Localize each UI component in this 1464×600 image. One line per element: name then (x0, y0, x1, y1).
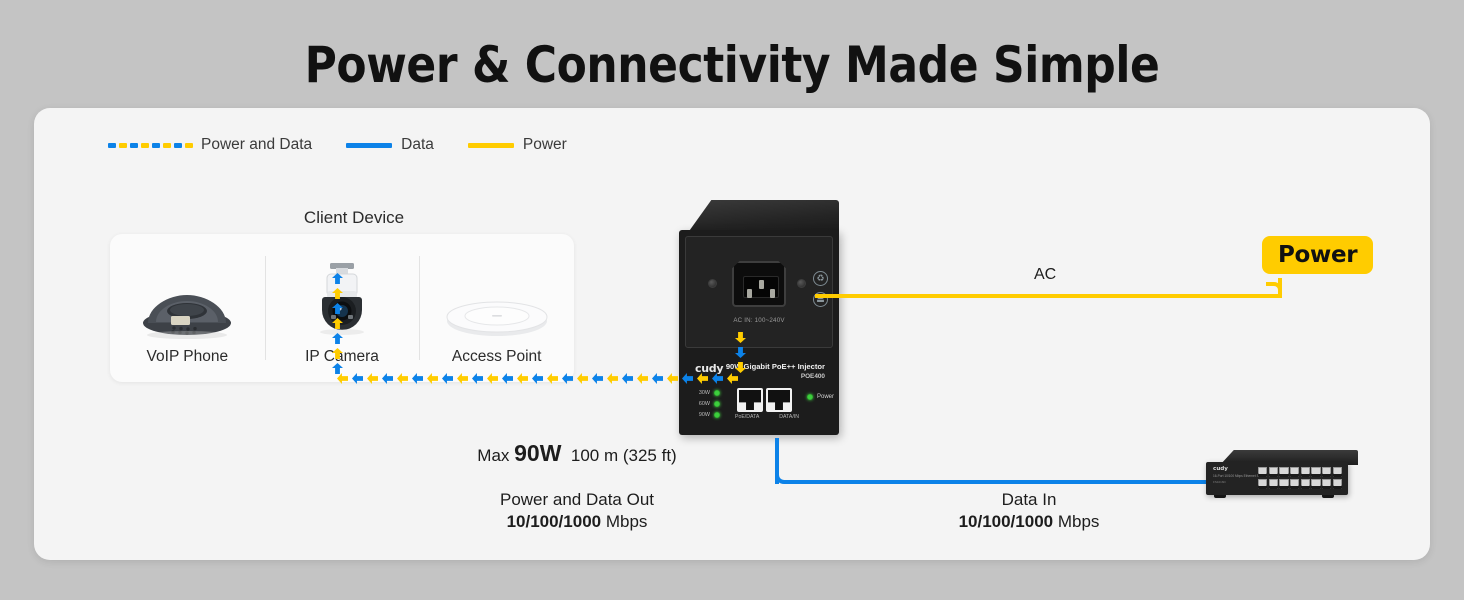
data-line-horizontal (791, 480, 1251, 484)
switch-foot (1214, 495, 1226, 498)
legend-label: Power and Data (201, 136, 312, 154)
poe-out-caption: Power and Data Out 10/100/1000 Mbps (432, 490, 722, 532)
injector-brand-logo: cudy (695, 362, 723, 375)
legend-item-data: Data (346, 136, 434, 154)
injector-front-panel: cudy 90W Gigabit PoE++ Injector POE400 3… (685, 354, 833, 429)
client-group-title: Client Device (144, 208, 564, 228)
led-label: 90W (695, 412, 710, 418)
page-title: Power & Connectivity Made Simple (88, 36, 1376, 94)
injector-port-group (737, 388, 792, 412)
power-led-icon (807, 394, 813, 400)
dash-arrow-icon (667, 373, 678, 384)
legend-swatch-data-icon (346, 143, 392, 148)
port-label-data-in: DATA/IN (779, 414, 799, 420)
legend-item-power: Power (468, 136, 567, 154)
rj45-port-data-in-icon (766, 388, 792, 412)
port-label-poe-data: PoE/DATA (735, 414, 759, 420)
legend-label: Power (523, 136, 567, 154)
data-in-title: Data In (884, 490, 1174, 510)
switch-port-grid (1258, 467, 1342, 489)
screw-icon (797, 279, 806, 288)
ac-connection-label: AC (1034, 266, 1056, 284)
injector-body: ♻ ⏏ AC IN: 100~240V cudy 90W Gigabit PoE… (679, 230, 839, 435)
voip-phone-icon (138, 261, 236, 339)
client-device-access-point: Access Point (419, 234, 574, 382)
injector-rear-panel: ♻ ⏏ AC IN: 100~240V (685, 236, 833, 348)
dash-arrow-icon (637, 373, 648, 384)
switch-body: cudy 16-Port 10/100 Mbps Ethernet Switch… (1206, 462, 1348, 495)
recycle-icon: ♻ (813, 271, 828, 286)
client-device-ip-camera: IP Camera (265, 234, 420, 382)
client-device-panel: VoIP Phone (110, 234, 574, 382)
legend-swatch-power-icon (468, 143, 514, 148)
led-indicator-icon (714, 390, 720, 396)
poe-injector-device: ♻ ⏏ AC IN: 100~240V cudy 90W Gigabit PoE… (679, 200, 849, 435)
client-device-voip-phone: VoIP Phone (110, 234, 265, 382)
max-power-value: 90W (514, 440, 561, 466)
power-line-horizontal (815, 294, 1282, 298)
ac-input-label: AC IN: 100~240V (686, 317, 832, 324)
legend-item-power-and-data: Power and Data (108, 136, 312, 154)
screw-icon (708, 279, 717, 288)
led-30w: 30W (695, 390, 720, 396)
diagram-stage: Power & Connectivity Made Simple Power a… (0, 0, 1464, 600)
led-label: 30W (695, 390, 710, 396)
power-indicator-label: Power (817, 394, 834, 400)
power-source-badge: Power (1262, 236, 1373, 274)
poe-out-speed: 10/100/1000 (507, 512, 602, 531)
led-90w: 90W (695, 412, 720, 418)
poe-distance: 100 m (325 ft) (571, 446, 677, 465)
dash-arrow-icon (622, 373, 633, 384)
data-in-caption: Data In 10/100/1000 Mbps (884, 490, 1174, 532)
client-device-label: VoIP Phone (147, 348, 229, 366)
led-indicator-icon (714, 401, 720, 407)
dash-arrow-icon (592, 373, 603, 384)
ip-camera-icon (312, 261, 372, 339)
data-in-speed-line: 10/100/1000 Mbps (884, 512, 1174, 532)
dash-arrow-icon (577, 373, 588, 384)
injector-power-indicator: Power (807, 394, 834, 400)
dash-arrow-icon (607, 373, 618, 384)
legend-label: Data (401, 136, 434, 154)
network-switch-device: cudy 16-Port 10/100 Mbps Ethernet Switch… (1206, 450, 1358, 498)
legend: Power and Data Data Power (108, 136, 567, 154)
switch-model-number: FS1016D (1213, 480, 1226, 484)
max-power-prefix: Max (477, 446, 509, 465)
poe-distance-caption: Max 90W 100 m (325 ft) (432, 440, 722, 467)
rj45-port-poe-data-icon (737, 388, 763, 412)
access-point-icon (442, 261, 552, 339)
data-in-speed: 10/100/1000 (959, 512, 1054, 531)
legend-swatch-dashed-icon (108, 143, 192, 148)
iec-c14-inlet-icon (732, 261, 786, 307)
switch-brand-logo: cudy (1213, 466, 1228, 472)
client-device-label: Access Point (452, 348, 542, 366)
client-device-label: IP Camera (305, 348, 379, 366)
poe-out-title: Power and Data Out (432, 490, 722, 510)
led-indicator-icon (714, 412, 720, 418)
injector-top-face (687, 200, 839, 234)
led-60w: 60W (695, 401, 720, 407)
injector-model-number: POE400 (801, 373, 825, 380)
poe-out-speed-line: 10/100/1000 Mbps (432, 512, 722, 532)
dash-arrow-icon (652, 373, 663, 384)
switch-foot (1322, 495, 1334, 498)
injector-port-labels: PoE/DATA DATA/IN (735, 414, 799, 420)
led-label: 60W (695, 401, 710, 407)
data-in-unit: Mbps (1058, 512, 1100, 531)
diagram-card: Power and Data Data Power Client Device (34, 108, 1430, 560)
poe-out-unit: Mbps (606, 512, 648, 531)
power-line-vertical (1278, 278, 1282, 298)
injector-led-group: 30W 60W 90W (695, 390, 720, 423)
